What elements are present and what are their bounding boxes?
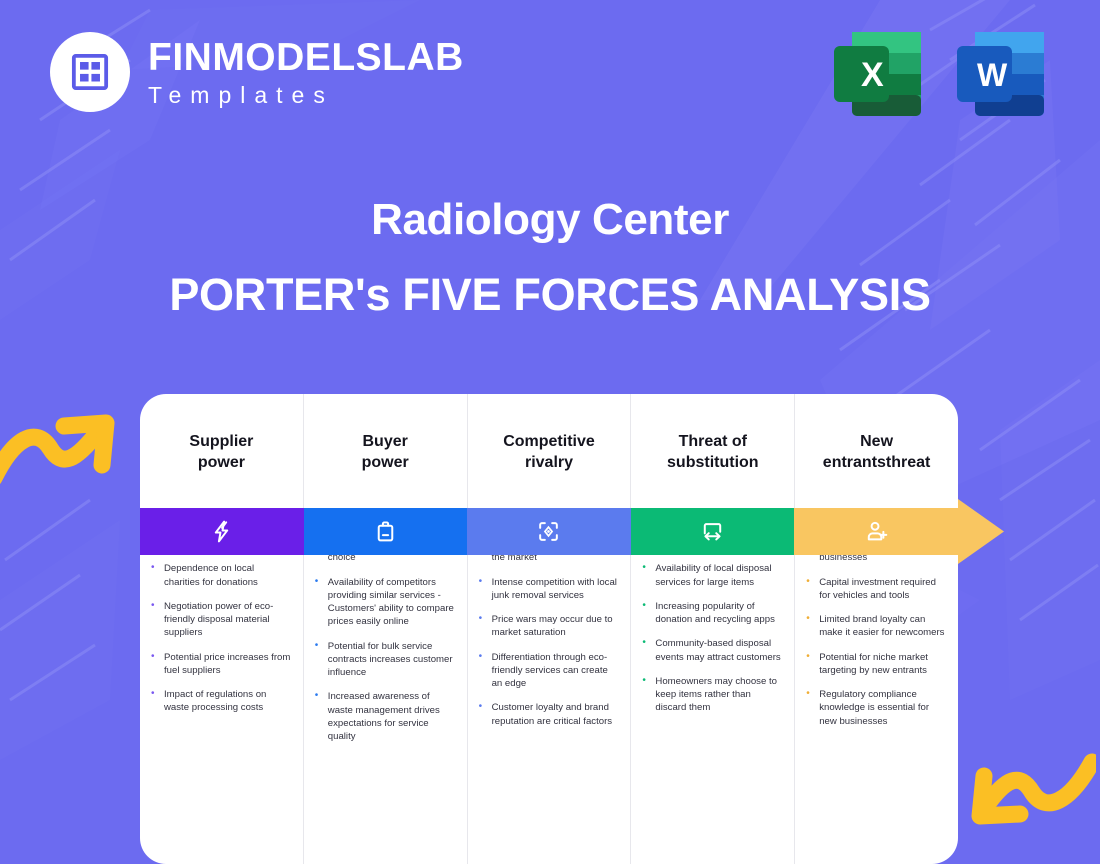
force-header-buyer-power: Buyerpower [304, 394, 467, 511]
list-item: Potential price increases from fuel supp… [150, 651, 291, 677]
page-subtitle: PORTER's FIVE FORCES ANALYSIS [0, 269, 1100, 321]
title-block: Radiology Center PORTER's FIVE FORCES AN… [0, 195, 1100, 321]
brand-logo[interactable]: FINMODELSLAB Templates [50, 32, 464, 112]
force-header-threat-of-substitution: Threat ofsubstitution [631, 394, 794, 511]
briefcase-icon [373, 519, 398, 544]
force-bullets-competitive-rivalry: Established competitors like 1-800-GOT-J… [478, 525, 619, 728]
force-header-text: Threat ofsubstitution [667, 432, 759, 473]
band-arrow-tip-icon [958, 499, 1006, 564]
word-icon[interactable]: W [953, 28, 1048, 120]
force-column-threat-of-substitution[interactable]: Threat ofsubstitution Alternative option… [631, 394, 795, 864]
list-item: Increased awareness of waste management … [314, 690, 455, 743]
svg-text:X: X [861, 56, 884, 94]
list-item: Availability of competitors providing si… [314, 576, 455, 629]
band-segment-threat-of-substitution[interactable] [631, 508, 795, 555]
brand-subtitle: Templates [148, 84, 464, 107]
porters-five-forces-card: Supplierpower Limited number of recyclin… [140, 394, 958, 864]
page-title: Radiology Center [0, 195, 1100, 245]
target-focus-icon [536, 519, 561, 544]
list-item: Capital investment required for vehicles… [805, 576, 946, 602]
list-item: Homeowners may choose to keep items rath… [641, 675, 782, 715]
list-item: Price wars may occur due to market satur… [478, 613, 619, 639]
forces-columns: Supplierpower Limited number of recyclin… [140, 394, 958, 864]
force-bullets-buyer-power: High demand for eco-friendly services en… [314, 525, 455, 743]
force-column-new-entrants-threat[interactable]: Newentrantsthreat Low barriers to entry … [795, 394, 958, 864]
list-item: Increasing popularity of donation and re… [641, 600, 782, 626]
list-item: Customer loyalty and brand reputation ar… [478, 701, 619, 727]
brand-title: FINMODELSLAB [148, 38, 464, 77]
list-item: Impact of regulations on waste processin… [150, 688, 291, 714]
force-column-competitive-rivalry[interactable]: Competitiverivalry Established competito… [468, 394, 632, 864]
force-bullets-new-entrants-threat: Low barriers to entry for small-scale ju… [805, 525, 946, 728]
list-item: Dependence on local charities for donati… [150, 562, 291, 588]
force-header-competitive-rivalry: Competitiverivalry [468, 394, 631, 511]
list-item: Limited brand loyalty can make it easier… [805, 613, 946, 639]
add-user-icon [864, 519, 889, 544]
band-segment-new-entrants-threat[interactable] [794, 508, 958, 555]
office-format-icons: X W [830, 28, 1048, 120]
force-header-text: Buyerpower [362, 432, 409, 473]
grid-squares-icon [71, 53, 109, 91]
excel-icon[interactable]: X [830, 28, 925, 120]
list-item: Availability of local disposal services … [641, 562, 782, 588]
force-column-supplier-power[interactable]: Supplierpower Limited number of recyclin… [140, 394, 304, 864]
list-item: Differentiation through eco-friendly ser… [478, 651, 619, 691]
logo-circle [50, 32, 130, 112]
list-item: Potential for bulk service contracts inc… [314, 640, 455, 680]
list-item: Negotiation power of eco-friendly dispos… [150, 600, 291, 640]
list-item: Regulatory compliance knowledge is essen… [805, 688, 946, 728]
force-header-supplier-power: Supplierpower [140, 394, 303, 511]
squiggle-arrow-up-right-icon [0, 404, 124, 495]
list-item: Community-based disposal events may attr… [641, 637, 782, 663]
force-column-buyer-power[interactable]: Buyerpower High demand for eco-friendly … [304, 394, 468, 864]
page-header: FINMODELSLAB Templates X [0, 0, 1100, 150]
band-segment-supplier-power[interactable] [140, 508, 304, 555]
force-header-text: Supplierpower [189, 432, 253, 473]
force-header-new-entrants-threat: Newentrantsthreat [795, 394, 958, 511]
svg-text:W: W [977, 57, 1008, 93]
list-item: Potential for niche market targeting by … [805, 651, 946, 677]
force-header-text: Competitiverivalry [503, 432, 595, 473]
squiggle-arrow-down-left-icon [962, 750, 1096, 843]
lightning-bolt-icon [209, 519, 234, 544]
forces-icon-band [140, 508, 958, 555]
exchange-arrows-icon [700, 519, 725, 544]
list-item: Intense competition with local junk remo… [478, 576, 619, 602]
force-header-text: Newentrantsthreat [823, 432, 931, 473]
band-segment-competitive-rivalry[interactable] [467, 508, 631, 555]
band-segment-buyer-power[interactable] [304, 508, 468, 555]
